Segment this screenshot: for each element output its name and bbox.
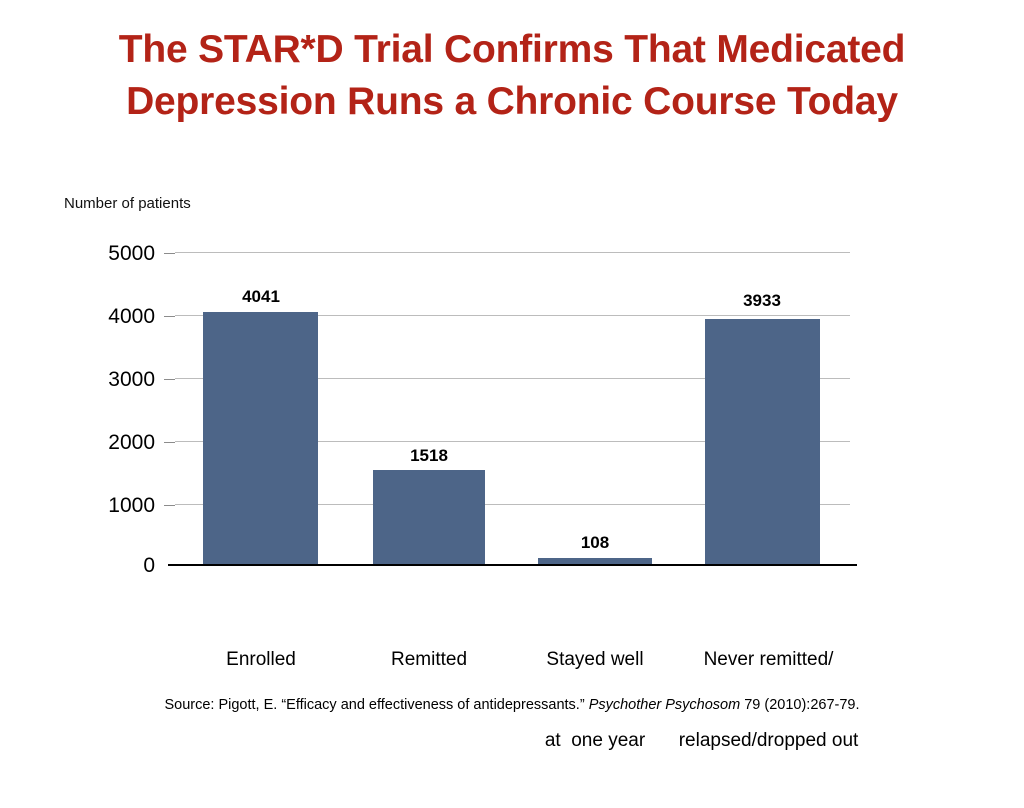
y-tick-mark (164, 316, 175, 317)
source-prefix: Source: Pigott, E. “Efficacy and effecti… (164, 697, 588, 713)
y-tick-mark (164, 442, 175, 443)
source-journal: Psychother Psychosom (589, 697, 741, 713)
x-category-line: Stayed well (514, 646, 676, 673)
y-tick-label: 1000 (75, 495, 155, 516)
y-tick-mark (164, 253, 175, 254)
y-tick-label: 2000 (75, 432, 155, 453)
x-category-line: at one year (514, 727, 676, 754)
bar-enrolled[interactable] (203, 312, 318, 565)
slide-canvas: The STAR*D Trial Confirms That Medicated… (0, 0, 1024, 768)
bar-value-label-never-remitted: 3933 (681, 292, 843, 310)
y-tick-label: 4000 (75, 306, 155, 327)
x-axis-line (168, 564, 857, 566)
x-category-line: Never remitted/ (671, 646, 866, 673)
y-tick-label: 0 (75, 555, 155, 576)
bar-value-label-remitted: 1518 (348, 447, 510, 465)
y-tick-label: 5000 (75, 243, 155, 264)
x-category-line: Enrolled (180, 646, 342, 673)
source-suffix: 79 (2010):267-79. (740, 697, 859, 713)
y-axis-tick-labels: 5000 4000 3000 2000 1000 0 (75, 0, 155, 768)
bar-never-remitted-relapsed-dropped-out[interactable] (705, 319, 820, 565)
x-category-line: Remitted (348, 646, 510, 673)
y-tick-mark (164, 379, 175, 380)
source-citation: Source: Pigott, E. “Efficacy and effecti… (0, 697, 1024, 713)
y-tick-label: 3000 (75, 369, 155, 390)
bar-remitted[interactable] (373, 470, 485, 565)
bar-value-label-stayed-well: 108 (514, 534, 676, 552)
y-tick-mark (164, 505, 175, 506)
x-category-line: relapsed/dropped out (671, 727, 866, 754)
gridline-5000 (175, 252, 850, 253)
bar-value-label-enrolled: 4041 (180, 288, 342, 306)
